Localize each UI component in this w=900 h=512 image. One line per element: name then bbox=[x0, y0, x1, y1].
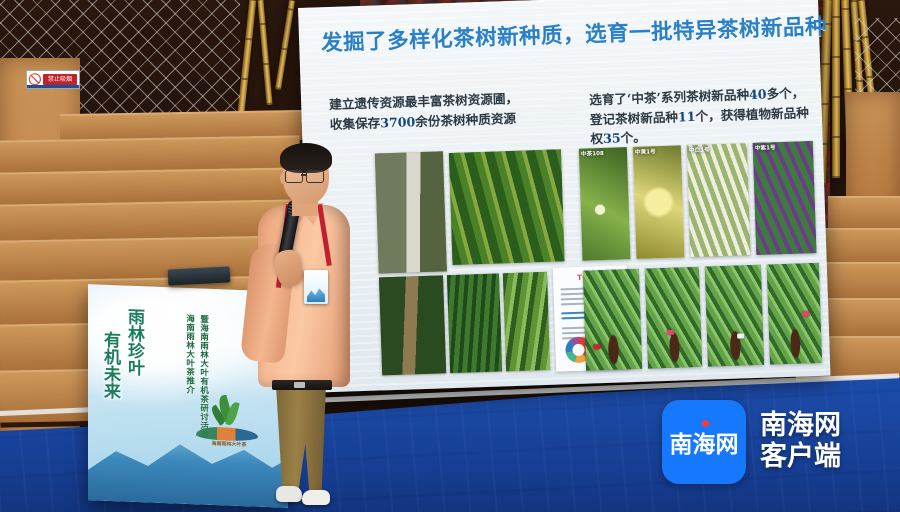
cultivar-label-2: 中黄1号 bbox=[635, 147, 656, 156]
right-text-post: 多个， bbox=[766, 85, 804, 101]
watermark-text: 南海网 客户端 bbox=[760, 411, 841, 473]
cultivar-photo-1: 中茶108 bbox=[579, 147, 631, 261]
sign-bottom-bar bbox=[27, 85, 79, 88]
tea-tree-trunk-photo bbox=[379, 275, 446, 375]
podium-vertical-text-left: 有机未来 bbox=[100, 331, 120, 400]
podium-laptop bbox=[168, 266, 231, 285]
board-right-text: 选育了‘中茶’系列茶树新品种40多个， 登记茶树新品种11个，获得植物新品种权3… bbox=[589, 83, 821, 149]
cultivar-label-1: 中茶108 bbox=[581, 149, 604, 158]
speaker-hair bbox=[280, 143, 332, 173]
tea-plantation-aerial-photo bbox=[449, 149, 565, 265]
watermark-line-1: 南海网 bbox=[760, 411, 841, 442]
tea-garden-monument-photo bbox=[375, 151, 447, 273]
logo-dot-icon bbox=[702, 420, 709, 427]
board-title: 发掘了多样化茶树新种质，选育一批特异茶树新品种 bbox=[321, 17, 809, 55]
no-smoking-label: 禁止吸烟 bbox=[43, 74, 77, 85]
board-left-text: 建立遗传资源最丰富茶树资源圃， 收集保存3700余份茶树种质资源 bbox=[329, 87, 580, 134]
right-text-pre-2: 登记茶树新品种 bbox=[590, 109, 679, 127]
speaker-belt bbox=[272, 380, 332, 390]
left-text-pre: 收集保存 bbox=[330, 115, 381, 132]
nanhaiwang-app-logo: 南海网 bbox=[662, 400, 746, 484]
right-text-pre: 选育了‘中茶’系列茶树新品种 bbox=[589, 87, 749, 107]
right-text-number-2: 11 bbox=[678, 108, 696, 124]
no-smoking-sign: 🚫 禁止吸烟 bbox=[26, 70, 80, 89]
eyeglasses-icon bbox=[285, 170, 327, 182]
speaker-name-badge bbox=[304, 270, 328, 304]
right-text-number-1: 40 bbox=[749, 87, 767, 103]
photo-scene: 🚫 禁止吸烟 发掘了多样化茶树新种质，选育一批特异茶树新品种 建立遗传资源最丰富… bbox=[0, 0, 900, 512]
potted-tea-plant-photo-3 bbox=[705, 265, 764, 367]
presentation-board: 发掘了多样化茶树新种质，选育一批特异茶树新品种 建立遗传资源最丰富茶树资源圃， … bbox=[298, 0, 830, 393]
cultivar-label-4: 中紫1号 bbox=[755, 143, 776, 152]
cultivar-photo-3: 中白1号 bbox=[687, 143, 751, 257]
podium-event-title: 海南雨林大叶茶推介 bbox=[184, 314, 197, 395]
bamboo-pole bbox=[832, 0, 840, 178]
event-line-1: 海南雨林大叶茶推介 bbox=[186, 314, 196, 394]
speaker-shoe-left bbox=[276, 486, 302, 502]
right-text-number-3: 35 bbox=[603, 130, 621, 146]
wooden-wall-right bbox=[846, 92, 900, 212]
tea-forest-photo bbox=[447, 273, 502, 373]
logo-text: 南海网 bbox=[670, 425, 739, 459]
cultivar-photo-4: 中紫1号 bbox=[753, 141, 817, 255]
left-text-number: 3700 bbox=[380, 114, 416, 130]
cultivar-photo-2: 中黄1号 bbox=[633, 145, 685, 259]
potted-tea-plant-photo-1 bbox=[583, 269, 642, 371]
tea-rows-photo bbox=[503, 272, 550, 371]
cultivar-label-3: 中白1号 bbox=[689, 145, 710, 154]
event-logo: 海南雨林大叶茶 bbox=[192, 392, 266, 455]
potted-tea-plant-photo-2 bbox=[645, 267, 702, 369]
speaker-shoe-right bbox=[302, 490, 330, 505]
potted-tea-plant-photo-4 bbox=[767, 263, 822, 365]
watermark: 南海网 南海网 客户端 bbox=[662, 400, 841, 484]
left-text-post: 余份茶树种质资源 bbox=[415, 110, 516, 128]
podium-vertical-text-right: 雨林珍叶 bbox=[124, 308, 144, 377]
right-text-post-2: 个。 bbox=[620, 130, 646, 146]
logo-caption: 海南雨林大叶茶 bbox=[198, 439, 260, 448]
watermark-line-2: 客户端 bbox=[760, 442, 841, 473]
